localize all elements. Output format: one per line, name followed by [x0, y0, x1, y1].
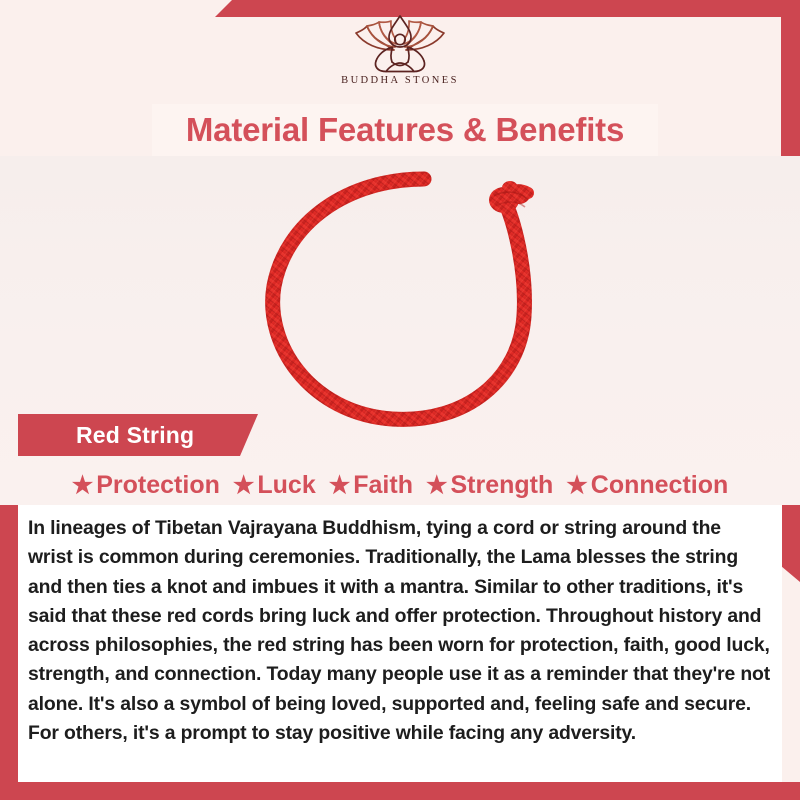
- page-title: Material Features & Benefits: [186, 111, 624, 149]
- star-icon: ★: [566, 474, 588, 498]
- star-icon: ★: [233, 474, 255, 498]
- material-tag-label: Red String: [76, 422, 194, 449]
- benefit-label: Protection: [96, 471, 220, 500]
- benefit-label: Strength: [450, 471, 553, 500]
- benefit-label: Faith: [353, 471, 413, 500]
- benefit-label: Luck: [257, 471, 315, 500]
- description-text: In lineages of Tibetan Vajrayana Buddhis…: [18, 505, 782, 748]
- star-icon: ★: [72, 474, 94, 498]
- material-tag: Red String: [18, 414, 258, 456]
- red-string-bracelet-image: [252, 166, 582, 436]
- description-card: In lineages of Tibetan Vajrayana Buddhis…: [18, 505, 782, 782]
- benefit-item: ★ Strength: [426, 471, 553, 500]
- star-icon: ★: [426, 474, 448, 498]
- benefit-item: ★ Connection: [566, 471, 728, 500]
- lotus-meditation-icon: [334, 14, 466, 74]
- brand-name: BUDDHA STONES: [341, 75, 459, 86]
- star-icon: ★: [329, 474, 351, 498]
- infographic-page: BUDDHA STONES Material Features & Benefi…: [0, 0, 800, 800]
- brand-header: BUDDHA STONES: [0, 0, 800, 104]
- benefit-item: ★ Protection: [72, 471, 220, 500]
- benefit-label: Connection: [591, 471, 729, 500]
- benefit-item: ★ Faith: [329, 471, 413, 500]
- decorative-bottom-band: [0, 782, 800, 800]
- title-plate: Material Features & Benefits: [152, 104, 658, 156]
- brand-logo: BUDDHA STONES: [0, 14, 800, 86]
- benefits-row: ★ Protection ★ Luck ★ Faith ★ Strength ★…: [0, 466, 800, 505]
- benefit-item: ★ Luck: [233, 471, 316, 500]
